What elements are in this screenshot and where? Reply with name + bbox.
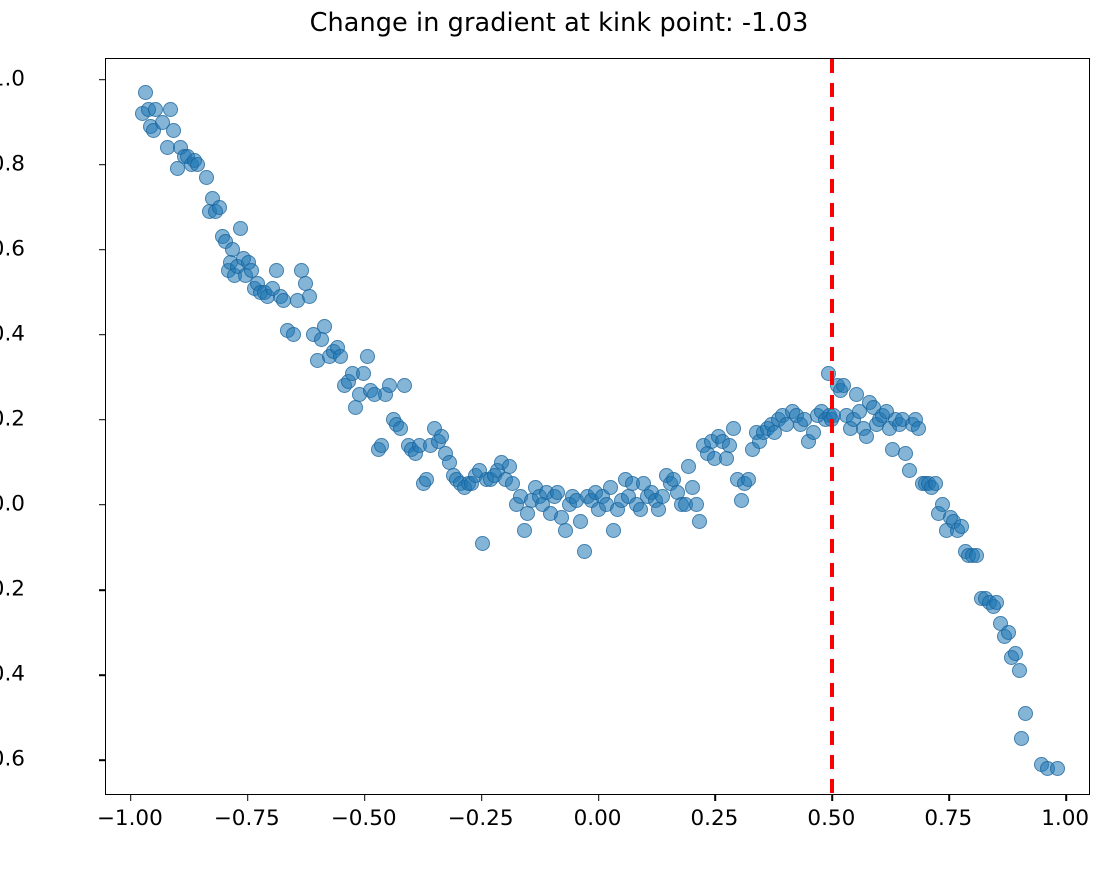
- scatter-point: [382, 378, 397, 393]
- scatter-point: [302, 289, 317, 304]
- scatter-point: [138, 85, 153, 100]
- scatter-point: [651, 502, 666, 517]
- x-tick-label: 0.75: [924, 806, 972, 831]
- scatter-point: [655, 489, 670, 504]
- scatter-point: [163, 102, 178, 117]
- y-tick-label: 1.0: [0, 66, 25, 91]
- scatter-point: [1012, 663, 1027, 678]
- scatter-point: [1001, 625, 1016, 640]
- x-tick-mark: [598, 794, 600, 801]
- scatter-point: [502, 459, 517, 474]
- plot-axes: [105, 58, 1090, 795]
- scatter-point: [166, 123, 181, 138]
- scatter-point: [734, 493, 749, 508]
- scatter-point: [333, 349, 348, 364]
- scatter-point: [276, 293, 291, 308]
- scatter-point: [989, 595, 1004, 610]
- scatter-point: [902, 463, 917, 478]
- scatter-point: [741, 472, 756, 487]
- scatter-point: [397, 378, 412, 393]
- scatter-point: [577, 544, 592, 559]
- y-tick-label: −0.4: [0, 662, 25, 687]
- x-tick-label: 0.25: [690, 806, 738, 831]
- y-tick-label: −0.6: [0, 747, 25, 772]
- x-tick-mark: [364, 794, 366, 801]
- scatter-point: [689, 497, 704, 512]
- y-tick-mark: [99, 589, 106, 591]
- scatter-point: [1050, 761, 1065, 776]
- chart-title: Change in gradient at kink point: -1.03: [0, 8, 1118, 38]
- scatter-point: [1008, 646, 1023, 661]
- y-tick-mark: [99, 504, 106, 506]
- scatter-point: [356, 366, 371, 381]
- scatter-point: [348, 400, 363, 415]
- scatter-point: [681, 459, 696, 474]
- y-tick-label: 0.0: [0, 491, 25, 516]
- y-tick-mark: [99, 334, 106, 336]
- y-tick-mark: [99, 249, 106, 251]
- x-tick-mark: [832, 794, 834, 801]
- y-tick-mark: [99, 419, 106, 421]
- y-tick-label: 0.4: [0, 321, 25, 346]
- scatter-point: [954, 519, 969, 534]
- scatter-point: [1014, 731, 1029, 746]
- scatter-point: [317, 319, 332, 334]
- y-tick-mark: [99, 674, 106, 676]
- x-tick-label: 0.00: [574, 806, 622, 831]
- y-tick-label: 0.6: [0, 236, 25, 261]
- scatter-point: [520, 506, 535, 521]
- scatter-point: [269, 263, 284, 278]
- x-tick-mark: [1065, 794, 1067, 801]
- y-tick-mark: [99, 759, 106, 761]
- x-tick-label: −1.00: [97, 806, 163, 831]
- scatter-layer: [106, 59, 1089, 794]
- scatter-point: [212, 200, 227, 215]
- scatter-point: [573, 514, 588, 529]
- scatter-point: [928, 476, 943, 491]
- x-tick-label: 1.00: [1041, 806, 1089, 831]
- scatter-point: [360, 349, 375, 364]
- scatter-point: [233, 221, 248, 236]
- scatter-point: [633, 502, 648, 517]
- y-tick-label: 0.2: [0, 406, 25, 431]
- y-tick-mark: [99, 164, 106, 166]
- x-tick-mark: [130, 794, 132, 801]
- scatter-point: [393, 421, 408, 436]
- matplotlib-figure: Change in gradient at kink point: -1.03 …: [0, 0, 1118, 869]
- y-tick-label: −0.2: [0, 576, 25, 601]
- scatter-point: [1018, 706, 1033, 721]
- scatter-point: [199, 170, 214, 185]
- scatter-point: [719, 451, 734, 466]
- scatter-point: [692, 514, 707, 529]
- x-tick-mark: [948, 794, 950, 801]
- scatter-point: [286, 327, 301, 342]
- scatter-point: [969, 548, 984, 563]
- scatter-point: [911, 421, 926, 436]
- scatter-point: [550, 485, 565, 500]
- scatter-point: [603, 480, 618, 495]
- x-tick-label: −0.75: [214, 806, 280, 831]
- scatter-point: [475, 536, 490, 551]
- scatter-point: [722, 438, 737, 453]
- kink-point-vline: [830, 59, 834, 794]
- x-tick-mark: [247, 794, 249, 801]
- scatter-point: [685, 480, 700, 495]
- x-tick-mark: [481, 794, 483, 801]
- scatter-point: [517, 523, 532, 538]
- x-tick-label: 0.50: [807, 806, 855, 831]
- scatter-point: [898, 446, 913, 461]
- scatter-point: [558, 523, 573, 538]
- scatter-point: [859, 429, 874, 444]
- scatter-point: [434, 429, 449, 444]
- scatter-point: [314, 332, 329, 347]
- y-tick-mark: [99, 79, 106, 81]
- scatter-point: [374, 438, 389, 453]
- scatter-point: [170, 161, 185, 176]
- scatter-point: [806, 425, 821, 440]
- scatter-point: [419, 472, 434, 487]
- scatter-point: [726, 421, 741, 436]
- scatter-point: [606, 523, 621, 538]
- x-tick-label: −0.25: [448, 806, 514, 831]
- x-tick-mark: [715, 794, 717, 801]
- y-tick-label: 0.8: [0, 151, 25, 176]
- x-tick-label: −0.50: [331, 806, 397, 831]
